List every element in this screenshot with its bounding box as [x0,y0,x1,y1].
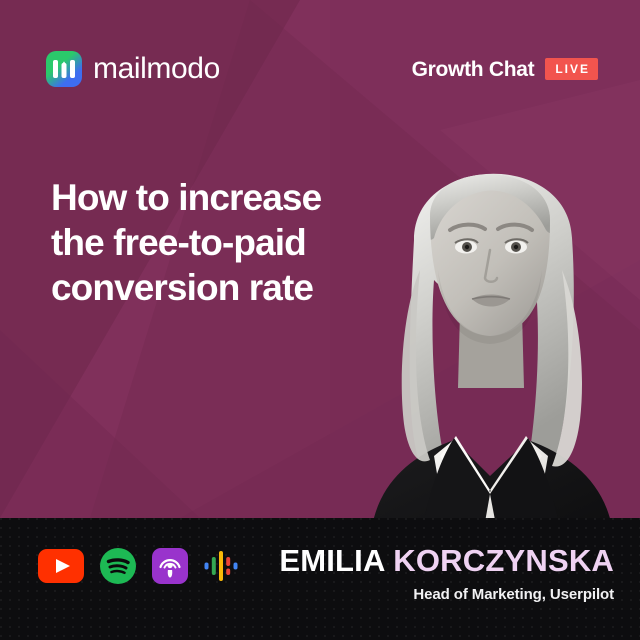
live-badge: LIVE [545,58,598,80]
google-podcasts-icon[interactable] [204,549,238,588]
promo-graphic: mailmodo Growth Chat LIVE How to increas… [0,0,640,640]
speaker-role: Head of Marketing, Userpilot [279,586,614,603]
brand-name: mailmodo [93,54,220,84]
speaker-credit: EMILIA KORCZYNSKA Head of Marketing, Use… [279,544,614,603]
apple-podcasts-icon[interactable] [152,548,188,589]
speaker-last-name: KORCZYNSKA [393,543,614,578]
platform-links [38,548,238,589]
footer-bar: EMILIA KORCZYNSKA Head of Marketing, Use… [0,518,640,640]
mailmodo-bars-icon [46,51,82,87]
header: mailmodo Growth Chat LIVE [46,47,598,91]
speaker-name: EMILIA KORCZYNSKA [279,544,614,578]
show-title: Growth Chat [412,59,535,80]
show-tag: Growth Chat LIVE [412,58,598,80]
youtube-icon[interactable] [38,549,84,588]
speaker-first-name: EMILIA [279,543,384,578]
brand-lockup[interactable]: mailmodo [46,51,220,87]
spotify-icon[interactable] [100,548,136,589]
